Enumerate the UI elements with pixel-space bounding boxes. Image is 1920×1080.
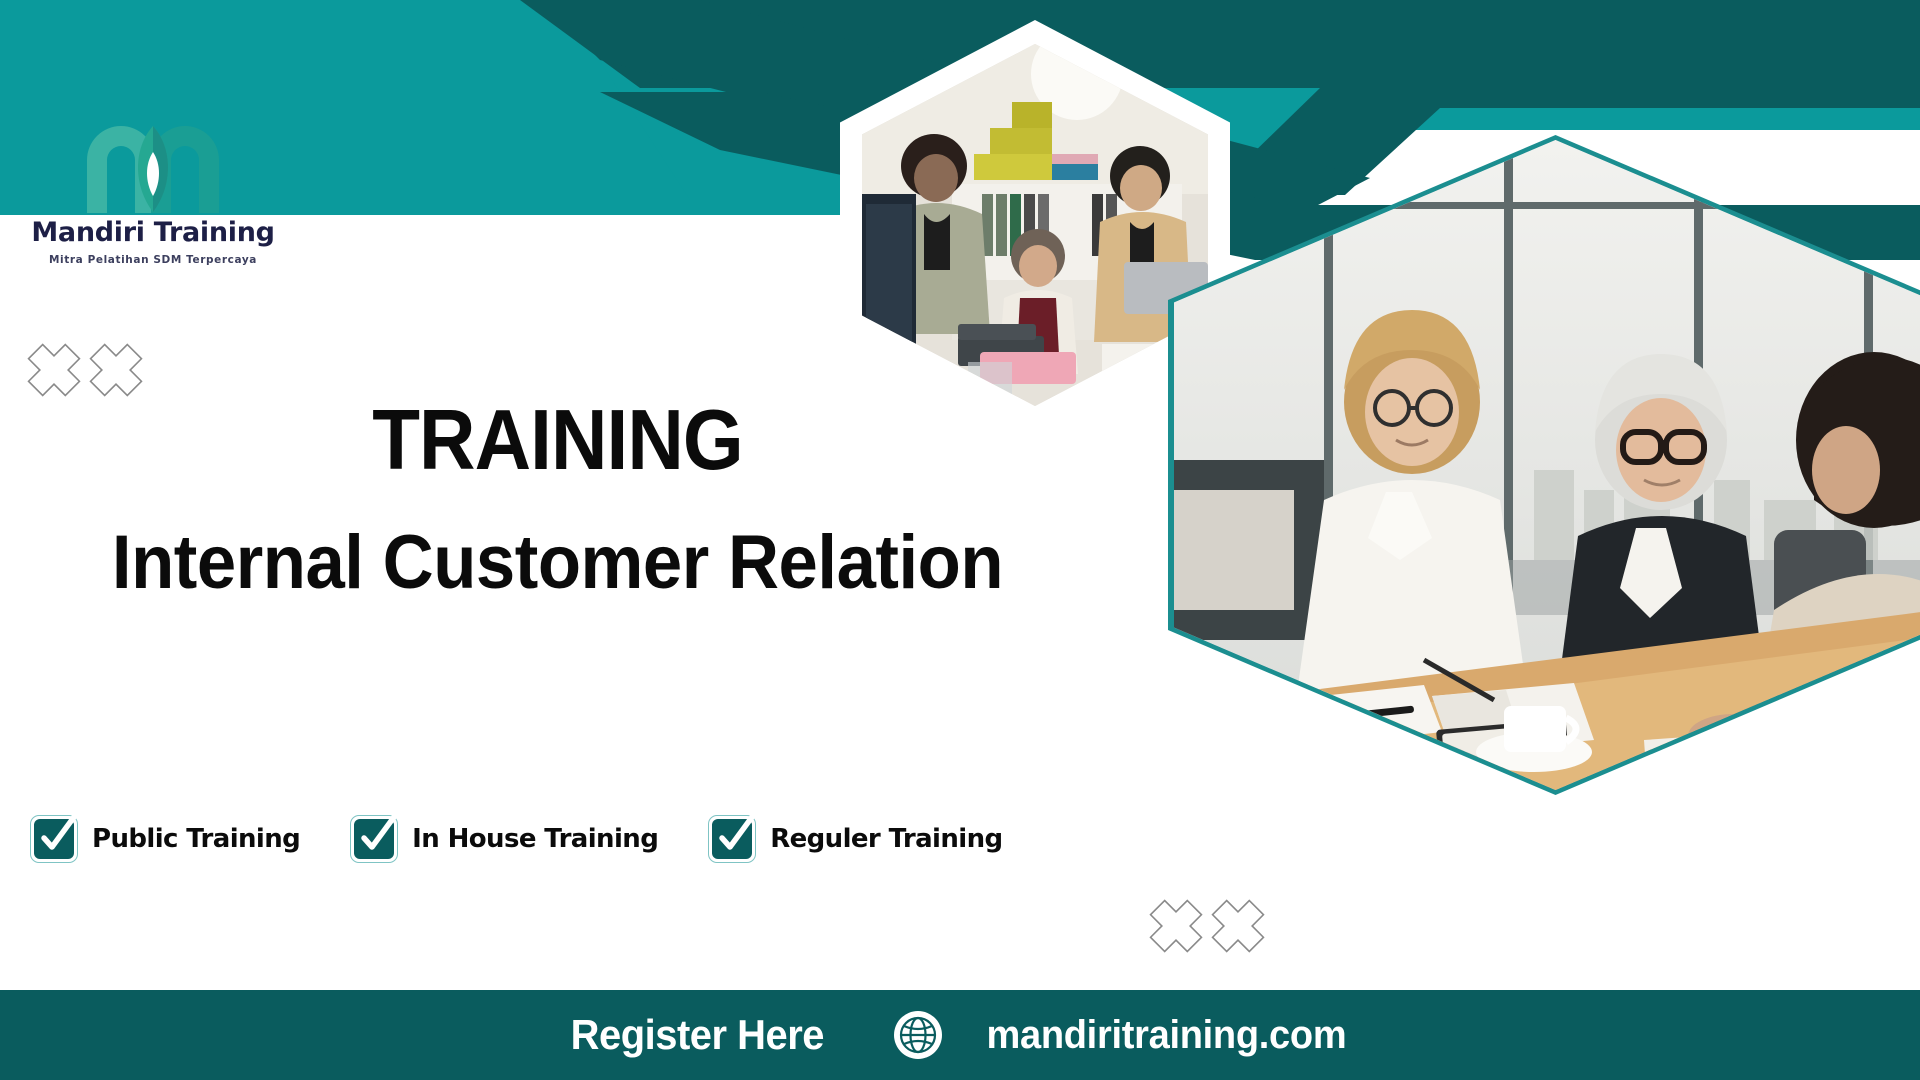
list-item-label: In House Training: [412, 824, 658, 854]
register-here-label[interactable]: Register Here: [571, 1011, 824, 1059]
cross-outline-icon: [26, 342, 82, 398]
globe-icon: [893, 1010, 943, 1060]
brand-name: Mandiri Training: [28, 217, 278, 248]
list-item[interactable]: Public Training: [30, 815, 300, 863]
checkbox-checked-icon: [30, 815, 78, 863]
list-item[interactable]: In House Training: [350, 815, 658, 863]
checkbox-checked-icon: [350, 815, 398, 863]
page-title: Internal Customer Relation: [39, 525, 1076, 601]
training-promo-poster: Mandiri Training Mitra Pelatihan SDM Ter…: [0, 0, 1920, 1080]
boardroom-photo-hexagon: [1168, 135, 1920, 795]
boardroom-business-women-meeting-photo: [1174, 140, 1920, 790]
website-url[interactable]: mandiritraining.com: [986, 1013, 1346, 1058]
brand-logo-block[interactable]: Mandiri Training Mitra Pelatihan SDM Ter…: [28, 108, 278, 266]
cross-outline-icon: [1148, 898, 1204, 954]
brand-tagline: Mitra Pelatihan SDM Terpercaya: [28, 254, 278, 266]
mandiri-m-monogram-icon: [77, 108, 229, 213]
list-item-label: Reguler Training: [770, 824, 1002, 854]
list-item[interactable]: Reguler Training: [708, 815, 1002, 863]
cross-outline-icon: [88, 342, 144, 398]
footer-bar: Register Here mandiritraining.com: [0, 990, 1920, 1080]
list-item-label: Public Training: [92, 824, 300, 854]
cross-decoration-top-left: [26, 342, 144, 398]
training-types-list: Public Training In House Training Regule…: [30, 815, 1003, 863]
checkbox-checked-icon: [708, 815, 756, 863]
cross-outline-icon: [1210, 898, 1266, 954]
website-group[interactable]: mandiritraining.com: [893, 1010, 1356, 1060]
cross-decoration-bottom-right: [1148, 898, 1266, 954]
